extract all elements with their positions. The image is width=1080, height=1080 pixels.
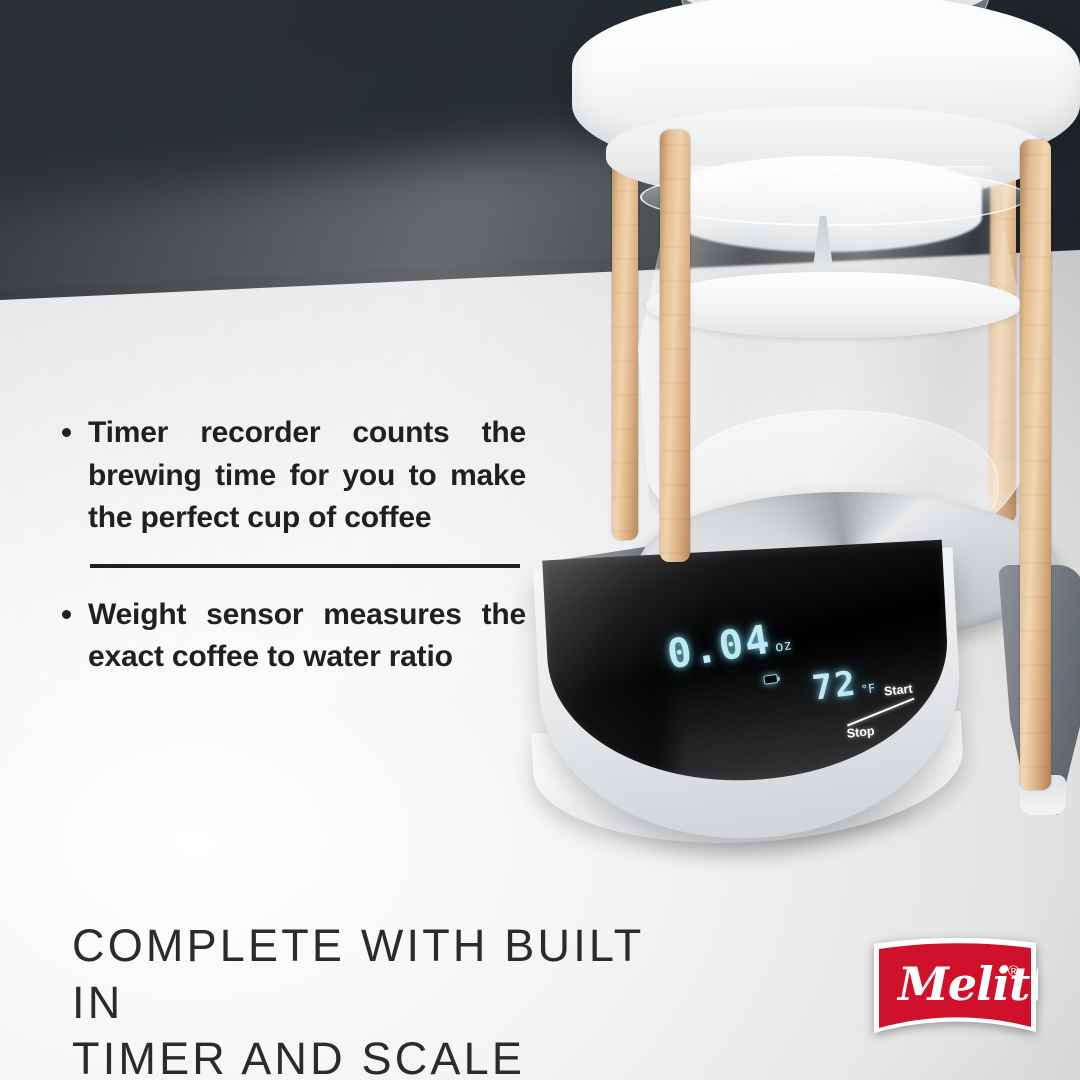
product-banner: 0.04 oz 72 °F Start Stop On Tare (0, 0, 1080, 1080)
wooden-leg-front-left (660, 130, 690, 562)
feature-item-weight: Weight sensor measures the exact coffee … (56, 594, 526, 679)
feature-item-timer: Timer recorder counts the brewing time f… (56, 412, 526, 540)
battery-icon (763, 674, 778, 685)
start-label: Start (883, 682, 913, 699)
headline: COMPLETE WITH BUILT IN TIMER AND SCALE (72, 918, 692, 1080)
scale-control-panel[interactable]: 0.04 oz 72 °F Start Stop On Tare (542, 540, 953, 791)
button-divider-line (847, 698, 914, 726)
start-stop-button[interactable]: Start Stop (840, 679, 919, 742)
feature-text-weight: Weight sensor measures the exact coffee … (88, 594, 526, 679)
registered-mark-icon: ® (1008, 963, 1019, 980)
headline-line-1: COMPLETE WITH BUILT IN (72, 918, 692, 1031)
feature-text-timer: Timer recorder counts the brewing time f… (88, 412, 526, 540)
coffee-brewer-product-image: 0.04 oz 72 °F Start Stop On Tare (520, 0, 1080, 860)
wooden-leg-front-right (1020, 140, 1051, 790)
carafe-rim (640, 168, 1028, 226)
feature-list: Timer recorder counts the brewing time f… (56, 412, 526, 679)
tare-label: Tare (936, 727, 954, 743)
feature-divider (90, 564, 520, 568)
bullet-dot-icon (62, 428, 71, 437)
bullet-dot-icon (62, 610, 71, 619)
melitta-logo: Melitta ® (872, 936, 1038, 1040)
headline-line-2: TIMER AND SCALE (72, 1031, 692, 1080)
carafe-white-collar (646, 272, 1022, 338)
weight-unit: oz (774, 637, 793, 655)
stop-label: Stop (846, 724, 875, 741)
